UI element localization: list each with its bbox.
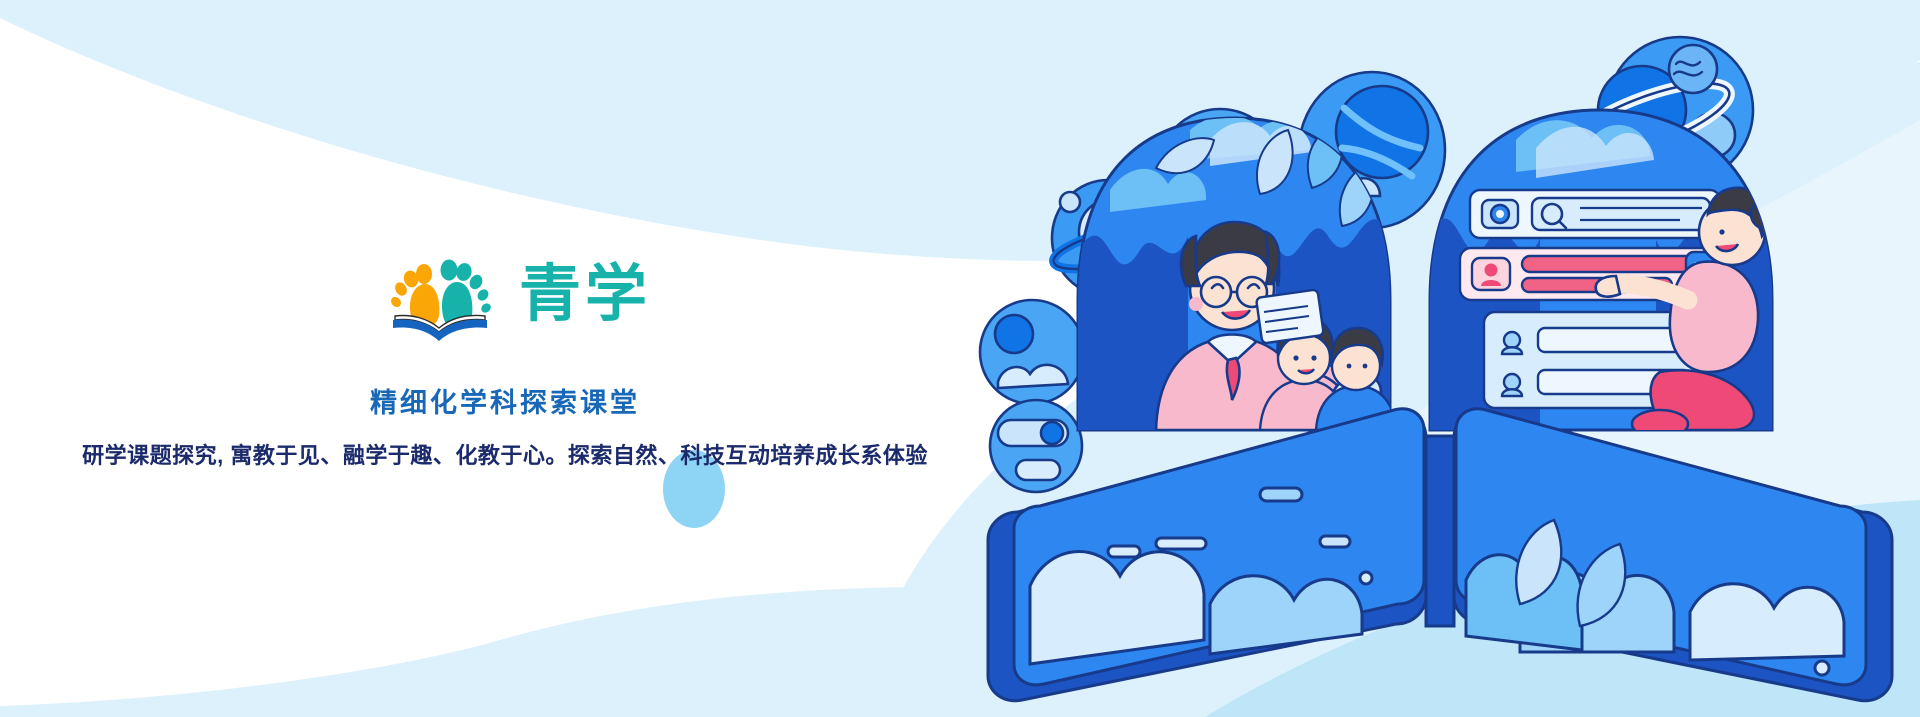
- bubble-cluster: [980, 37, 1753, 492]
- planet-striped-bubble: [1299, 72, 1445, 228]
- moon-orbit-bubble: [1050, 180, 1170, 296]
- hero-illustration: [960, 0, 1920, 717]
- dashboard-card-top: [1470, 190, 1720, 238]
- brand-name: 青学: [519, 263, 651, 325]
- teacher-with-glasses: [1156, 222, 1388, 430]
- wave-right-light: [1190, 120, 1920, 717]
- rocket-bubble: [1157, 109, 1283, 235]
- wave-bottom-right: [1205, 500, 1920, 717]
- footprints-on-open-book-logo: [389, 246, 493, 342]
- hero-banner: 青学 精细化学科探索课堂 研学课题探究, 寓教于见、融学于趣、化教于心。探索自然…: [0, 0, 1920, 717]
- brand-logo[interactable]: 青学: [389, 246, 651, 342]
- student-front: [1260, 318, 1348, 430]
- right-page-scene: [1430, 110, 1781, 438]
- globe-bubble: [1230, 270, 1290, 330]
- book-shape: [393, 315, 487, 341]
- hero-tagline: 精细化学科探索课堂: [370, 386, 640, 421]
- open-book-base: [988, 409, 1892, 701]
- planet-saturn-bubble: [1563, 37, 1753, 183]
- woman-at-dashboard: [1596, 188, 1781, 438]
- dashboard-card-active: [1460, 248, 1728, 300]
- dashboard-card-list: [1484, 312, 1708, 408]
- student-back: [1316, 328, 1396, 430]
- hero-content: 青学 精细化学科探索课堂 研学课题探究, 寓教于见、融学于趣、化教于心。探索自然…: [0, 0, 1010, 717]
- hero-subtitle: 研学课题探究, 寓教于见、融学于趣、化教于心。探索自然、科技互动培养成长系体验: [82, 441, 928, 472]
- paper-sheet: [1256, 289, 1324, 343]
- wave-right-field: [860, 0, 1920, 717]
- left-page-scene: [1078, 115, 1396, 430]
